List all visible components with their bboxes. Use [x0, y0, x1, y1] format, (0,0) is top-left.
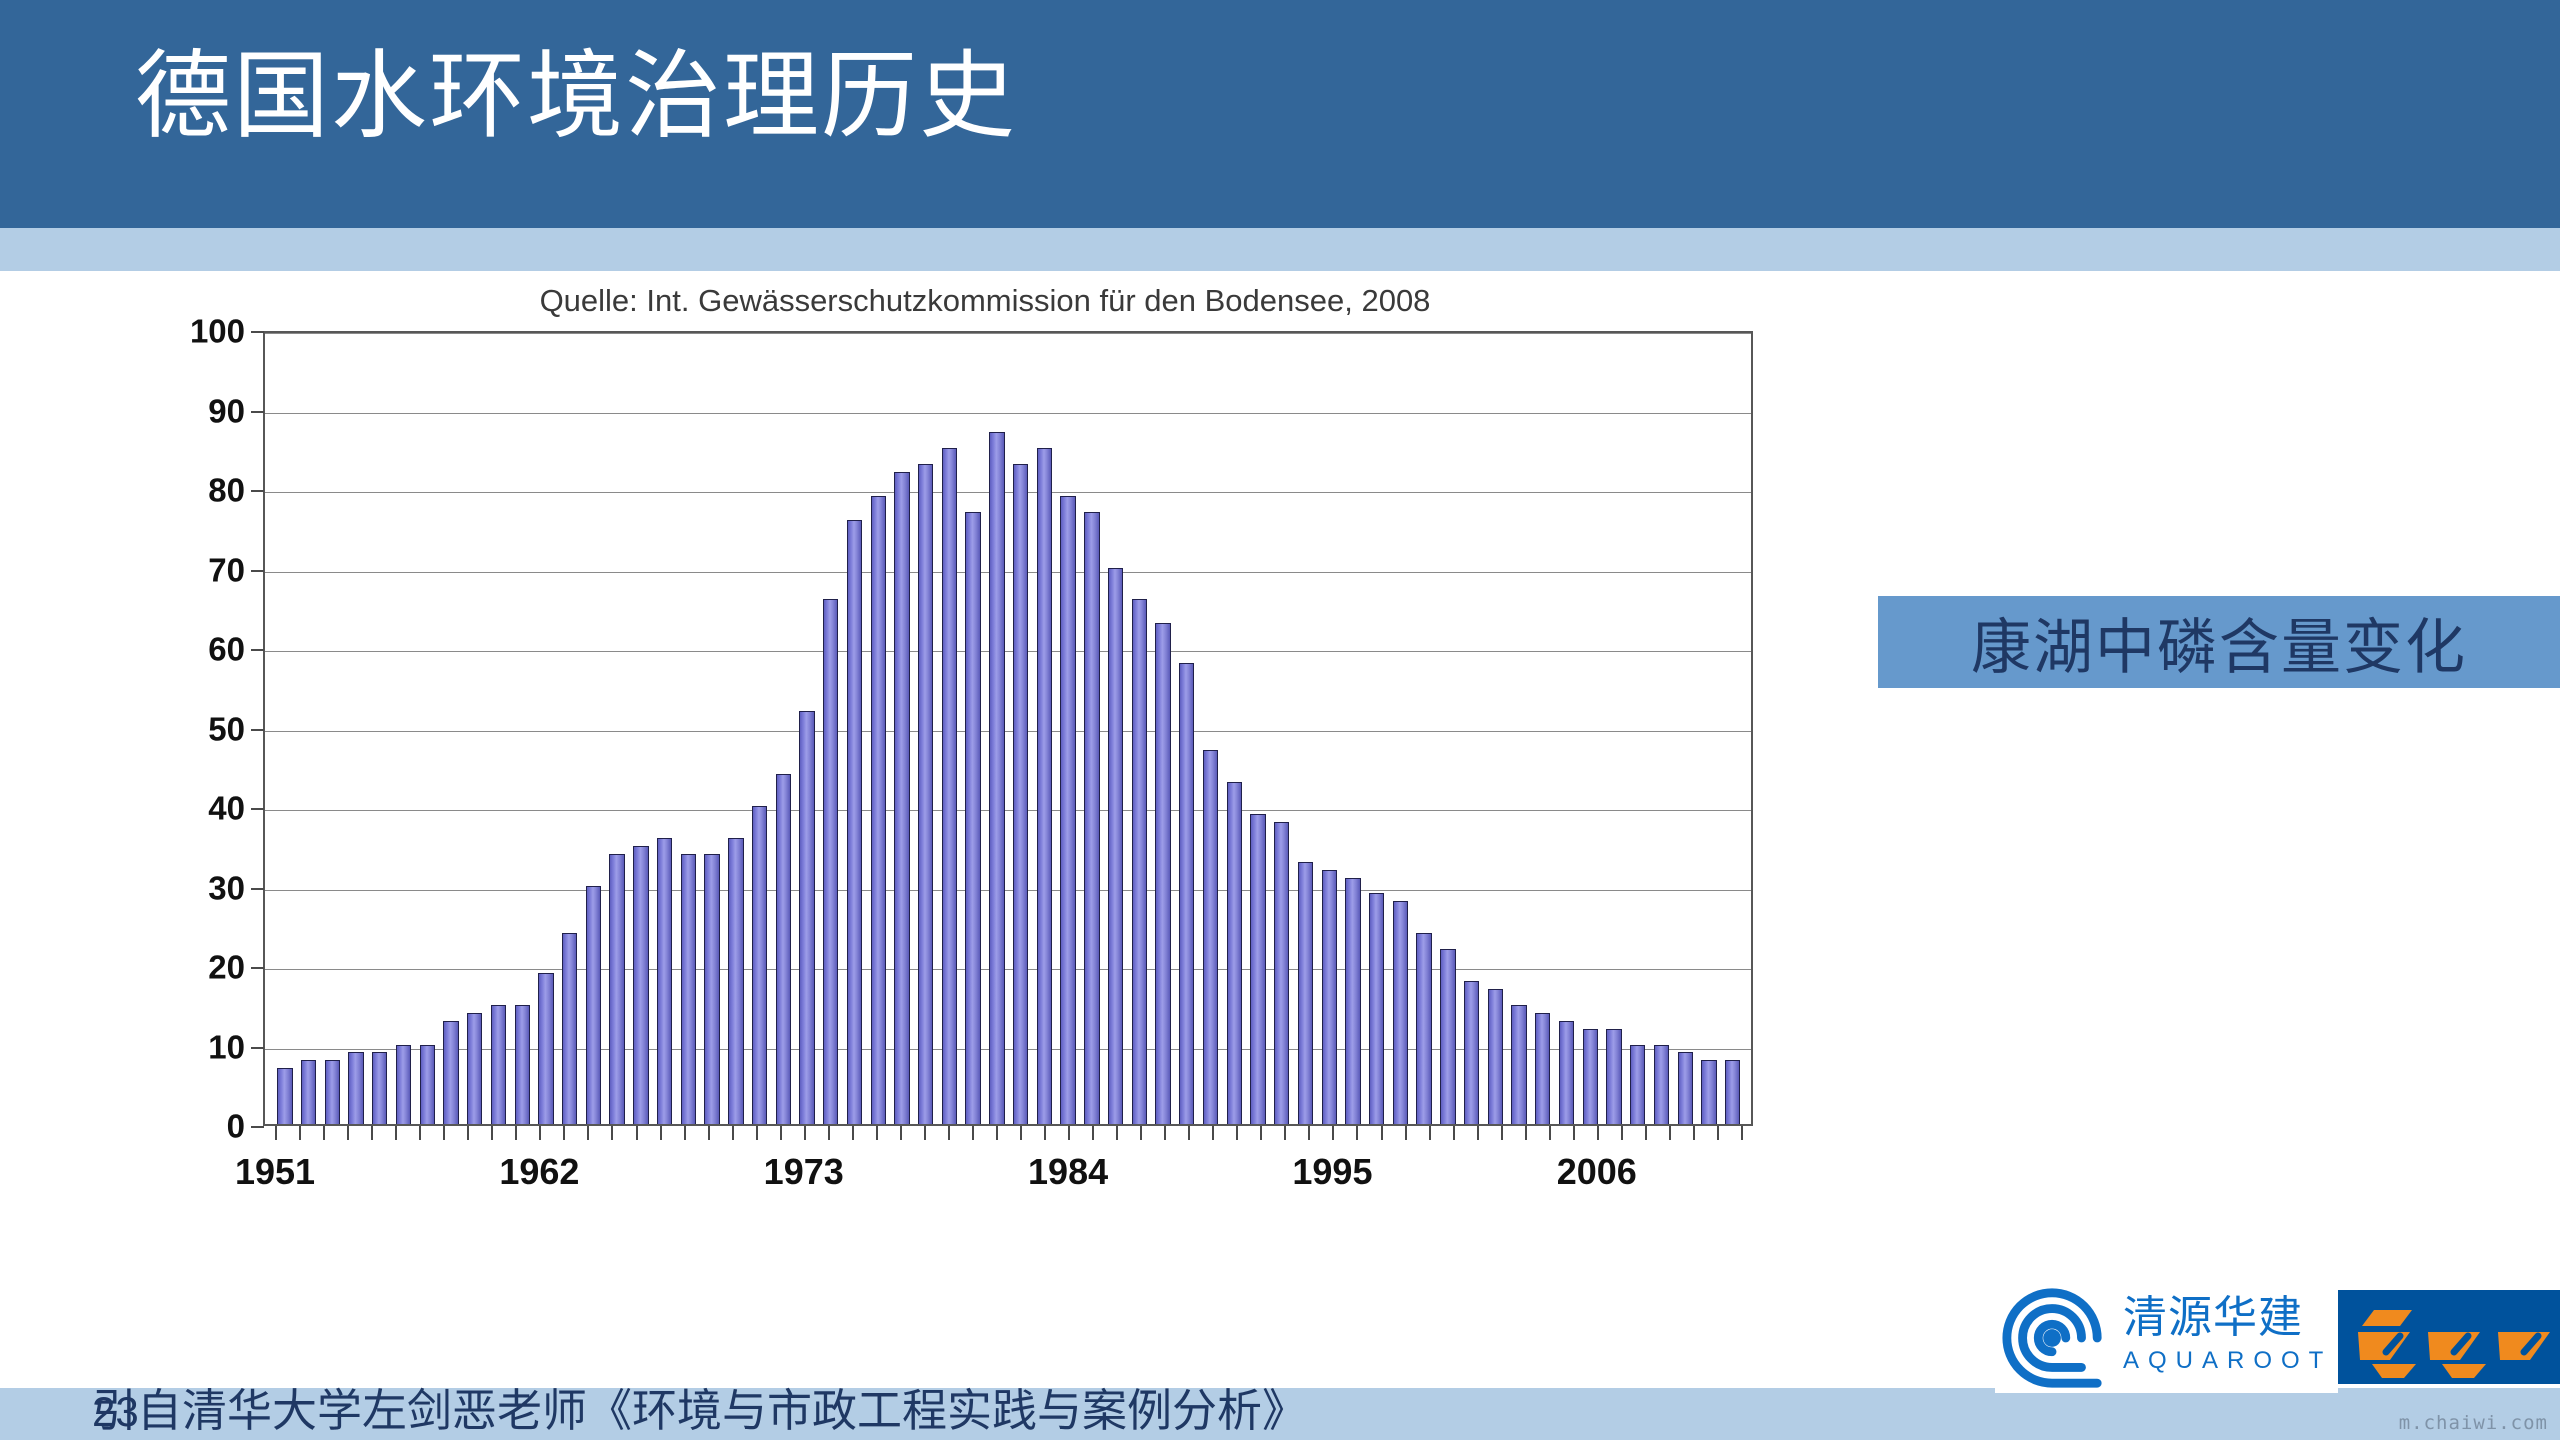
y-axis-tick-label: 10 [105, 1030, 245, 1063]
plot-frame [263, 331, 1753, 1126]
brand-name-en: AQUAROOT [2123, 1344, 2332, 1378]
x-axis-tick [660, 1126, 662, 1140]
y-axis-tick-label: 20 [105, 951, 245, 984]
x-axis-tick [515, 1126, 517, 1140]
bar [1179, 663, 1194, 1124]
bar [918, 464, 933, 1124]
bar [1013, 464, 1028, 1124]
bar [1416, 933, 1431, 1124]
x-axis-tick [491, 1126, 493, 1140]
bar [396, 1045, 411, 1125]
y-axis-tick-label: 60 [105, 633, 245, 666]
x-axis-tick [1308, 1126, 1310, 1140]
bar [609, 854, 624, 1124]
y-axis-tick [251, 649, 264, 651]
page-title: 德国水环境治理历史 [135, 38, 1017, 155]
x-axis-tick [996, 1126, 998, 1140]
x-axis-tick [1477, 1126, 1479, 1140]
bar [704, 854, 719, 1124]
x-axis-tick [323, 1126, 325, 1140]
bar [1606, 1029, 1621, 1124]
x-axis-tick [275, 1126, 277, 1140]
x-axis-tick [684, 1126, 686, 1140]
x-axis-tick [1405, 1126, 1407, 1140]
x-axis-tick-label: 2006 [1557, 1151, 1637, 1193]
bar [1725, 1060, 1740, 1124]
x-axis-tick [1020, 1126, 1022, 1140]
x-axis-tick [1140, 1126, 1142, 1140]
bar [989, 432, 1004, 1124]
y-axis-tick-label: 80 [105, 474, 245, 507]
chart-source-caption: Quelle: Int. Gewässerschutzkommission fü… [105, 283, 1865, 319]
x-axis-tick [1164, 1126, 1166, 1140]
x-axis-tick [1525, 1126, 1527, 1140]
bar-series [265, 333, 1751, 1124]
bar [515, 1005, 530, 1124]
y-axis-tick [251, 490, 264, 492]
bar [1678, 1052, 1693, 1124]
x-axis-tick [1693, 1126, 1695, 1140]
x-axis-tick [1549, 1126, 1551, 1140]
callout-banner: 康湖中磷含量变化 [1878, 596, 2560, 688]
bar [1535, 1013, 1550, 1124]
bar [1132, 599, 1147, 1124]
bar [301, 1060, 316, 1124]
bar [372, 1052, 387, 1124]
x-axis-tick [1501, 1126, 1503, 1140]
x-axis-tick [1669, 1126, 1671, 1140]
bar [1037, 448, 1052, 1124]
y-axis-tick-label: 50 [105, 712, 245, 745]
bar [1155, 623, 1170, 1124]
x-axis-tick [1236, 1126, 1238, 1140]
bar [1630, 1045, 1645, 1125]
x-axis-tick [804, 1126, 806, 1140]
bar [1701, 1060, 1716, 1124]
header-accent-strip [0, 228, 2560, 271]
x-axis-tick [972, 1126, 974, 1140]
bar [1108, 568, 1123, 1125]
x-axis-tick [611, 1126, 613, 1140]
y-axis-tick-label: 70 [105, 553, 245, 586]
x-axis-tick [1621, 1126, 1623, 1140]
x-axis-tick [587, 1126, 589, 1140]
x-axis-tick-label: 1951 [235, 1151, 315, 1193]
plot-area: 0102030405060708090100195119621973198419… [105, 331, 1865, 1231]
bar [1440, 949, 1455, 1124]
y-axis-tick-label: 100 [105, 315, 245, 348]
bar [586, 886, 601, 1125]
bar [1393, 901, 1408, 1124]
bar [1464, 981, 1479, 1124]
bar [467, 1013, 482, 1124]
x-axis-tick [780, 1126, 782, 1140]
y-axis-tick-label: 0 [105, 1110, 245, 1143]
callout-label: 康湖中磷含量变化 [1971, 599, 2467, 686]
bar [942, 448, 957, 1124]
x-axis-tick [708, 1126, 710, 1140]
bar [799, 711, 814, 1124]
x-axis-tick [1068, 1126, 1070, 1140]
y-axis-tick [251, 888, 264, 890]
bar [776, 774, 791, 1124]
x-axis-tick [924, 1126, 926, 1140]
logo-area: 清源华建 AQUAROOT [1995, 1278, 2560, 1396]
x-axis-tick [732, 1126, 734, 1140]
bar [1250, 814, 1265, 1124]
x-axis-tick-label: 1984 [1028, 1151, 1108, 1193]
aquaroot-logo: 清源华建 AQUAROOT [1995, 1281, 2338, 1393]
x-axis-tick [1741, 1126, 1743, 1140]
bar [420, 1045, 435, 1125]
bar [1559, 1021, 1574, 1124]
x-axis-tick [539, 1126, 541, 1140]
brand-name-cn: 清源华建 [2123, 1296, 2332, 1340]
bar [1298, 862, 1313, 1124]
x-axis-tick [900, 1126, 902, 1140]
y-axis-tick [251, 1126, 264, 1128]
x-axis-tick [1044, 1126, 1046, 1140]
x-axis-tick [1260, 1126, 1262, 1140]
x-axis-tick [1645, 1126, 1647, 1140]
x-axis-tick [1092, 1126, 1094, 1140]
x-axis-tick [395, 1126, 397, 1140]
bar [491, 1005, 506, 1124]
x-axis-tick [443, 1126, 445, 1140]
y-axis-tick-label: 90 [105, 394, 245, 427]
bar [1345, 878, 1360, 1124]
y-axis-tick [251, 967, 264, 969]
x-axis-tick [876, 1126, 878, 1140]
bar [1274, 822, 1289, 1124]
x-axis-tick [1429, 1126, 1431, 1140]
bar [277, 1068, 292, 1124]
bar [894, 472, 909, 1124]
y-axis-tick [251, 729, 264, 731]
bar [1488, 989, 1503, 1124]
y-axis-tick [251, 570, 264, 572]
bgu-mark-icon [2338, 1290, 2560, 1384]
x-axis-tick [467, 1126, 469, 1140]
x-axis-tick [1717, 1126, 1719, 1140]
x-axis-tick [347, 1126, 349, 1140]
bar [847, 520, 862, 1124]
y-axis-tick-label: 30 [105, 871, 245, 904]
footer-attribution: 引自清华大学左剑恶老师《环境与市政工程实践与案例分析》 [92, 1386, 1307, 1436]
x-axis-tick [1284, 1126, 1286, 1140]
y-axis-tick [251, 331, 264, 333]
bar [1203, 750, 1218, 1124]
aquaroot-wordmark: 清源华建 AQUAROOT [2123, 1296, 2332, 1378]
bar [823, 599, 838, 1124]
y-axis-tick [251, 1047, 264, 1049]
bar [1322, 870, 1337, 1124]
x-axis-tick [1573, 1126, 1575, 1140]
x-axis-tick [1116, 1126, 1118, 1140]
bar [348, 1052, 363, 1124]
bar [1084, 512, 1099, 1124]
x-axis-tick [828, 1126, 830, 1140]
aquaroot-spiral-icon [1995, 1283, 2113, 1391]
x-axis-tick [1356, 1126, 1358, 1140]
y-axis-tick [251, 808, 264, 810]
chart-panel: Quelle: Int. Gewässerschutzkommission fü… [105, 283, 1865, 1283]
bar [1369, 893, 1384, 1124]
bar [871, 496, 886, 1124]
bar [538, 973, 553, 1124]
x-axis-tick [1188, 1126, 1190, 1140]
x-axis-tick [1381, 1126, 1383, 1140]
bar [443, 1021, 458, 1124]
bar [1654, 1045, 1669, 1125]
x-axis-tick [1597, 1126, 1599, 1140]
bar [681, 854, 696, 1124]
x-axis-tick-label: 1973 [764, 1151, 844, 1193]
bar [728, 838, 743, 1124]
slide: 德国水环境治理历史 Quelle: Int. Gewässerschutzkom… [0, 0, 2560, 1440]
bar [1583, 1029, 1598, 1124]
watermark: m.chaiwi.com [2399, 1412, 2548, 1434]
x-axis-tick [756, 1126, 758, 1140]
bar [1511, 1005, 1526, 1124]
bar [1060, 496, 1075, 1124]
bar [657, 838, 672, 1124]
y-axis-tick [251, 411, 264, 413]
x-axis-tick [563, 1126, 565, 1140]
partner-logo [2338, 1290, 2560, 1384]
x-axis-tick [419, 1126, 421, 1140]
bar [562, 933, 577, 1124]
bar [1227, 782, 1242, 1124]
bar [325, 1060, 340, 1124]
x-axis-tick [1212, 1126, 1214, 1140]
x-axis-tick [948, 1126, 950, 1140]
x-axis-tick-label: 1962 [499, 1151, 579, 1193]
x-axis-tick-label: 1995 [1292, 1151, 1372, 1193]
x-axis-tick [852, 1126, 854, 1140]
x-axis-tick [1332, 1126, 1334, 1140]
bar [633, 846, 648, 1124]
x-axis-tick [299, 1126, 301, 1140]
x-axis-tick [636, 1126, 638, 1140]
y-axis-tick-label: 40 [105, 792, 245, 825]
x-axis-tick [371, 1126, 373, 1140]
bar [752, 806, 767, 1124]
x-axis-tick [1453, 1126, 1455, 1140]
bar [965, 512, 980, 1124]
